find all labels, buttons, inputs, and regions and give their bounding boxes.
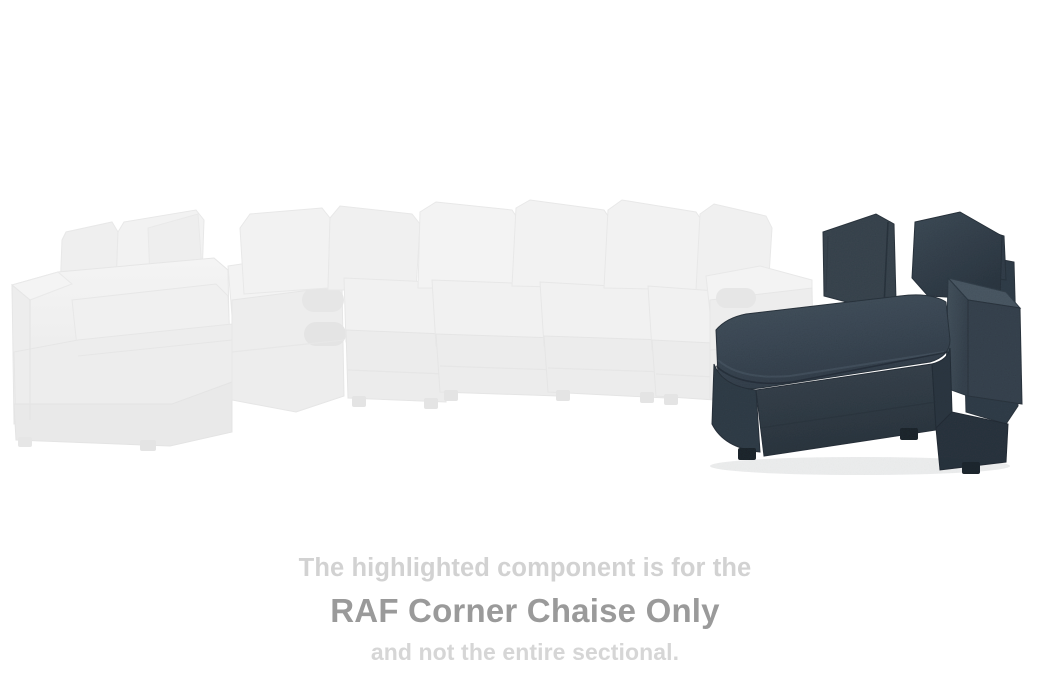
chaise-leg-front-right — [900, 428, 918, 440]
caption-block: The highlighted component is for the RAF… — [0, 548, 1050, 670]
cupholder-right — [716, 288, 756, 308]
product-image-canvas: The highlighted component is for the RAF… — [0, 0, 1050, 700]
caption-lead-line: The highlighted component is for the — [0, 548, 1050, 588]
ghost-sectional-group — [12, 200, 814, 451]
chaise-leg-front-left — [738, 448, 756, 460]
caption-tail-line: and not the entire sectional. — [0, 634, 1050, 670]
ghost-part-laf-loveseat — [12, 210, 232, 451]
cupholder-upper — [302, 288, 344, 312]
caption-main-line: RAF Corner Chaise Only — [0, 588, 1050, 634]
sectional-illustration — [0, 0, 1050, 520]
